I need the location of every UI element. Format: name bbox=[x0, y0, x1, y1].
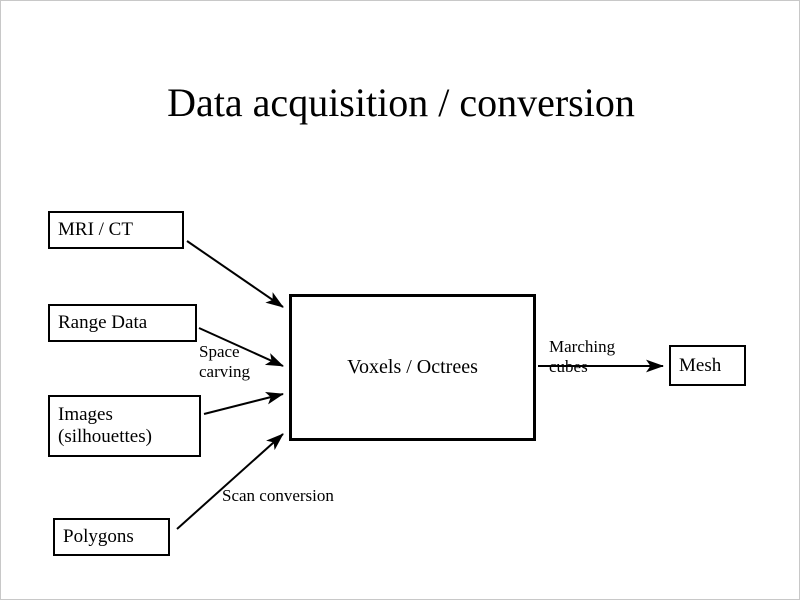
node-polygons-label: Polygons bbox=[63, 526, 134, 548]
arrow-mri-to-voxels bbox=[187, 241, 283, 307]
edge-label-marching-cubes: Marching cubes bbox=[549, 337, 615, 376]
node-mri-ct-label: MRI / CT bbox=[58, 219, 133, 241]
node-voxels-label: Voxels / Octrees bbox=[347, 356, 478, 379]
node-mesh: Mesh bbox=[669, 345, 746, 386]
node-images-label: Images (silhouettes) bbox=[58, 404, 152, 448]
node-mri-ct: MRI / CT bbox=[48, 211, 184, 249]
node-voxels-octrees: Voxels / Octrees bbox=[289, 294, 536, 441]
slide-canvas: Data acquisition / conversion MRI / CT R… bbox=[0, 0, 800, 600]
node-range-data: Range Data bbox=[48, 304, 197, 342]
page-title: Data acquisition / conversion bbox=[1, 79, 800, 126]
node-mesh-label: Mesh bbox=[679, 355, 721, 377]
node-polygons: Polygons bbox=[53, 518, 170, 556]
node-range-data-label: Range Data bbox=[58, 312, 147, 334]
arrow-images-to-voxels bbox=[204, 394, 283, 414]
node-images-silhouettes: Images (silhouettes) bbox=[48, 395, 201, 457]
edge-label-space-carving: Space carving bbox=[199, 342, 250, 381]
edge-label-scan-conversion: Scan conversion bbox=[222, 486, 334, 506]
